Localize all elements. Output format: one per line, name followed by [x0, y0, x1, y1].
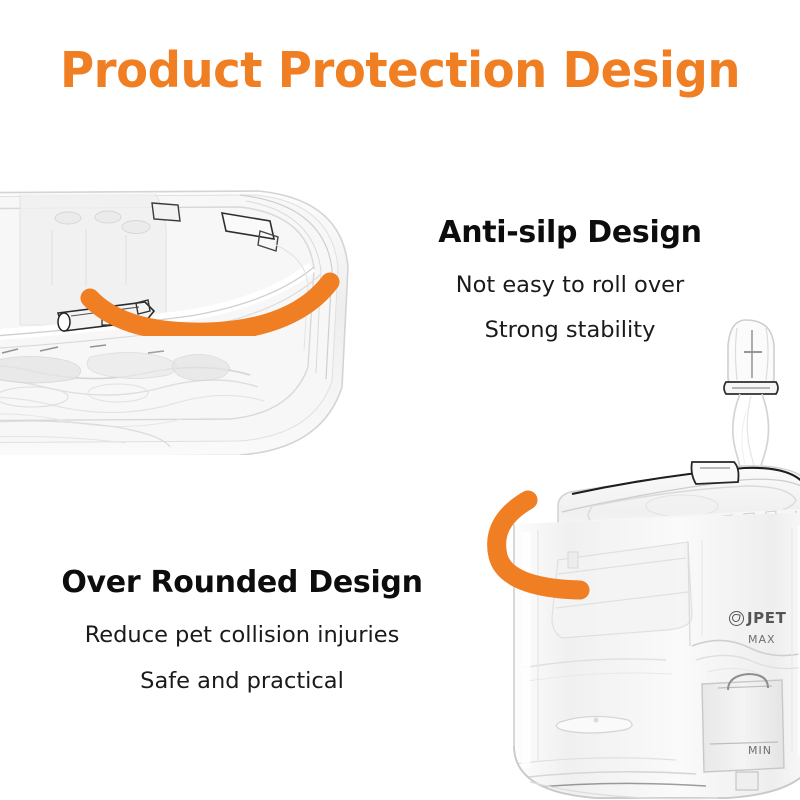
product-brand-logo: JPET [729, 609, 786, 627]
feature-heading-anti-slip: Anti-silp Design [390, 216, 750, 249]
feature-block-over-rounded: Over Rounded Design Reduce pet collision… [24, 566, 460, 694]
feature-block-anti-slip: Anti-silp Design Not easy to roll over S… [390, 216, 750, 343]
feature-heading-over-rounded: Over Rounded Design [24, 566, 460, 599]
feature-line1-anti-slip: Not easy to roll over [390, 273, 750, 298]
product-image-water-fountain [496, 316, 800, 800]
min-water-level-label: MIN [748, 744, 772, 757]
page-title: Product Protection Design [20, 42, 780, 99]
product-infographic: JPET MAX MIN Product Protection Design A… [0, 0, 800, 800]
feature-line2-over-rounded: Safe and practical [24, 669, 460, 694]
feature-line1-over-rounded: Reduce pet collision injuries [24, 623, 460, 648]
jpet-paw-mark-icon [729, 611, 744, 626]
brand-name-text: JPET [747, 609, 786, 627]
max-water-level-label: MAX [748, 633, 776, 646]
feature-line2-anti-slip: Strong stability [390, 318, 750, 343]
product-image-water-tank [0, 135, 410, 455]
